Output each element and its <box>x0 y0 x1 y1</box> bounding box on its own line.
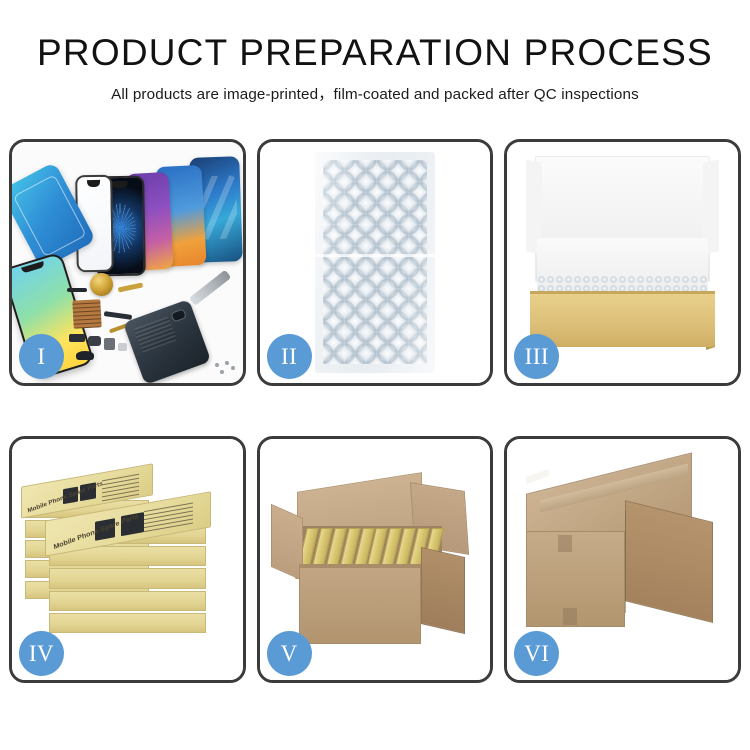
camera-module <box>170 308 187 323</box>
small-part-2 <box>88 336 100 346</box>
bubble-wrap-pouch <box>315 152 435 374</box>
step-badge-1: I <box>19 334 64 379</box>
carton-side-right <box>421 547 465 634</box>
process-step-panel-6: VI <box>504 436 741 683</box>
printed-text-lines-front <box>144 502 193 535</box>
screws-group <box>213 360 238 377</box>
phone-notch <box>87 179 100 186</box>
small-part-1 <box>69 334 85 341</box>
plastic-gloss <box>315 152 435 374</box>
flex-cable-2 <box>104 311 132 320</box>
box-front-4 <box>49 591 206 611</box>
step-badge-4: IV <box>19 631 64 676</box>
spare-parts-group <box>67 277 242 383</box>
step-badge-2: II <box>267 334 312 379</box>
product-preparation-infographic: PRODUCT PREPARATION PROCESS All products… <box>0 0 750 750</box>
header: PRODUCT PREPARATION PROCESS All products… <box>0 0 750 104</box>
process-step-panel-3: III <box>504 139 741 386</box>
phone-notch <box>111 181 129 188</box>
process-step-panel-4: Mobile Phone Spare Parts Mobile Phone Sp… <box>9 436 246 683</box>
process-step-grid: I II <box>9 139 741 683</box>
vibration-motor-part <box>90 273 113 296</box>
process-step-panel-1: I <box>9 139 246 386</box>
kraft-box-front <box>530 294 715 347</box>
sim-tray-part <box>118 343 127 351</box>
carton-seam-top <box>558 535 572 552</box>
carton-corner-edge <box>625 511 627 612</box>
process-step-panel-2: II <box>257 139 494 386</box>
box-front-3 <box>49 568 206 588</box>
carton-front <box>299 567 421 644</box>
small-part-3 <box>104 338 115 350</box>
step-badge-5: V <box>267 631 312 676</box>
circuit-board-part <box>72 300 101 329</box>
small-part-6 <box>67 288 86 292</box>
speaker-part <box>76 351 94 359</box>
flex-cable-1 <box>118 283 143 293</box>
page-subtitle: All products are image-printed，film-coat… <box>0 82 750 104</box>
phone-back-housing <box>123 299 211 383</box>
process-step-panel-5: V <box>257 436 494 683</box>
page-title: PRODUCT PREPARATION PROCESS <box>0 34 750 73</box>
box-front-5 <box>49 613 206 633</box>
carton-seam-bottom <box>563 608 577 625</box>
